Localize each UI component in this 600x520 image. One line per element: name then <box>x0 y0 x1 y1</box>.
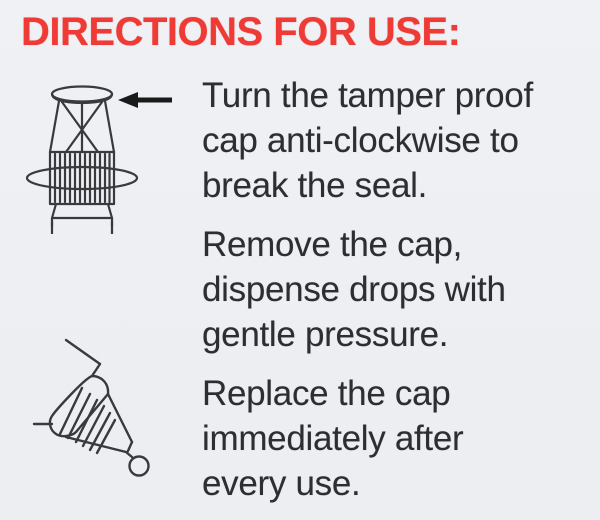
instruction-line: Turn the tamper proof <box>202 73 592 118</box>
instruction-step-3: Replace the cap immediately after every … <box>202 371 592 506</box>
instruction-step-1: Turn the tamper proof cap anti-clockwise… <box>202 73 592 208</box>
instruction-line: gentle pressure. <box>202 312 592 357</box>
left-arrow-icon <box>118 92 172 108</box>
instruction-line: dispense drops with <box>202 267 592 312</box>
instruction-line: immediately after <box>202 416 592 461</box>
dropper-bottle-icon <box>26 336 176 491</box>
instruction-line: Remove the cap, <box>202 222 592 267</box>
instruction-line: cap anti-clockwise to <box>202 118 592 163</box>
instructions-text-column: Turn the tamper proof cap anti-clockwise… <box>202 73 592 506</box>
directions-for-use-label: DIRECTIONS FOR USE: <box>0 0 600 520</box>
page-title: DIRECTIONS FOR USE: <box>21 8 460 56</box>
instruction-line: every use. <box>202 461 592 506</box>
instruction-line: break the seal. <box>202 163 592 208</box>
tamper-proof-cap-icon <box>18 74 183 239</box>
instruction-step-2: Remove the cap, dispense drops with gent… <box>202 222 592 357</box>
instruction-line: Replace the cap <box>202 371 592 416</box>
